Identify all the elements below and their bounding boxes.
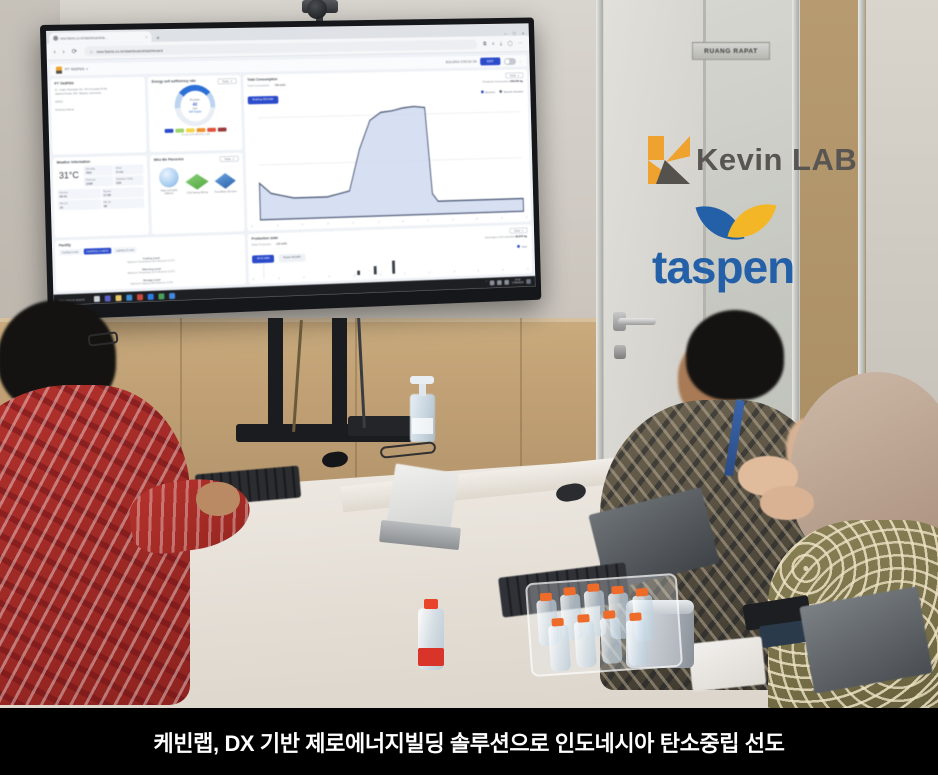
chevron-down-icon: ▾ [233, 157, 234, 160]
chevron-down-icon: ▾ [231, 80, 232, 83]
legend-solar: Solar [518, 245, 528, 249]
consumption-area-chart: 00020406 08101214 16182022 [248, 96, 528, 228]
resource-item[interactable]: Solar Cell 1200 kWh/m2 [155, 167, 181, 196]
edit-button[interactable]: EDIT [480, 58, 500, 65]
consumption-meta-key: Total Consumption [247, 83, 269, 87]
production-meta-value: 136 kWh [276, 242, 287, 246]
building-address-2: Jakarta Pusat, DKI Jakarta, Indonesia [55, 90, 142, 96]
blue-energy-icon [215, 173, 237, 189]
taskbar-tray: ^ 14:3217/06/2024 [486, 279, 531, 286]
chrome-icon[interactable] [169, 292, 175, 298]
efficiency-period-select[interactable]: Today ▾ [217, 78, 236, 84]
back-icon[interactable]: ‹ [53, 48, 55, 55]
weather-metric: Humidity78% [84, 165, 114, 176]
energy-dashboard: PT TASPEN ▾ BUILDING STATUS ON EDIT ◌ PT… [47, 52, 535, 295]
resource-item[interactable]: Tree Effect 120 trees [212, 173, 238, 195]
total-consumption-card: Total Consumption Today ▾ Total Consumpt… [243, 69, 531, 231]
bell-icon[interactable]: ◌ [519, 58, 521, 63]
profile-icon[interactable]: ◯ [507, 41, 512, 47]
taspen-leaf-icon [700, 198, 776, 244]
status-toggle[interactable] [504, 58, 516, 65]
kevin-lab-logo: Kevin LAB [648, 136, 857, 184]
reload-icon[interactable]: ⟳ [72, 47, 78, 55]
chevron-down-icon: ▾ [522, 229, 523, 232]
camera-lens-icon [307, 0, 327, 19]
address-bar-url: new.5ams.co.kr/dashboard/dashboard [96, 47, 162, 53]
person-left-hand [196, 482, 240, 516]
resource-card: Who We Parcorms Today ▾ Solar Cell 1200 … [150, 153, 245, 235]
efficiency-donut-chart: Provider 42 kWh Self Supply [174, 84, 216, 126]
facility-item: Storage Level Maximum Capacity 85% Minim… [60, 275, 242, 289]
consumption-right-stat-value: 248,450 kg [510, 79, 523, 83]
zoom-icon[interactable] [147, 293, 153, 299]
resource-label: CO2 Saving 820 kg [187, 191, 208, 195]
person-right-man-hair [686, 310, 784, 400]
production-right-stat-key: Generation CO2 reduction [485, 235, 515, 240]
dashboard-grid: PT TASPEN JL. Letjen Suprapto No. 45 Cem… [50, 69, 532, 291]
facility-meta: Lighting 21 units [113, 247, 137, 254]
self-sufficiency-card: Energy self sufficiency rate Today ▾ Pro… [148, 75, 243, 152]
download-icon[interactable]: ⤓ [500, 41, 502, 47]
consumption-period-select[interactable]: Today ▾ [505, 72, 523, 78]
tab-title: new.5ams.co.kr/dashboard/da... [60, 35, 107, 40]
kevin-lab-k-icon [648, 136, 690, 184]
status-label: BUILDING STATUS ON [446, 60, 477, 64]
production-right-stat: Generation CO2 reduction 82,870 kg [485, 234, 527, 239]
tissue-box [688, 636, 767, 691]
efficiency-legend-caption: % level self sufficiency map [182, 132, 210, 136]
chevron-down-icon[interactable]: ▾ [86, 67, 88, 71]
explorer-icon[interactable] [115, 295, 121, 301]
search-icon[interactable]: ⌕ [492, 41, 495, 47]
weather-temperature: 31°C [57, 166, 81, 188]
donut-value: 42 [193, 102, 198, 107]
office-icon[interactable] [137, 294, 143, 300]
building-info-card: PT TASPEN JL. Letjen Suprapto No. 45 Cem… [50, 77, 146, 155]
water-bottle [574, 621, 597, 668]
facility-meta: Cooling 3 units [59, 249, 81, 256]
consumption-period-value: Today [510, 74, 516, 77]
tv-stand-leg [332, 318, 347, 426]
green-field-icon [185, 174, 209, 190]
wall-display: new.5ams.co.kr/dashboard/da... × + – □ ×… [40, 17, 541, 319]
water-bottle-basket [525, 573, 683, 677]
weather-footer-metrics: Sunrise05:42 Sunset17:58 PM 2.522 PM 103… [57, 187, 144, 211]
start-icon[interactable] [93, 295, 99, 301]
door-lock[interactable] [614, 345, 626, 359]
battery-icon[interactable] [504, 280, 509, 285]
taskbar-clock[interactable]: 14:3217/06/2024 [512, 279, 524, 285]
network-icon[interactable] [490, 280, 495, 285]
site-info-icon[interactable]: ⌂ [90, 49, 93, 54]
building-address-3: 10520 [55, 98, 142, 104]
display-screen: new.5ams.co.kr/dashboard/da... × + – □ ×… [46, 23, 535, 305]
facility-control-button[interactable]: CONTROL 2 UNITS [83, 248, 111, 255]
solar-sphere-icon [159, 167, 179, 187]
kevin-lab-wordmark: Kevin LAB [696, 142, 857, 178]
resource-label: Solar Cell 1200 kWh/m2 [156, 189, 182, 196]
tv-stand-leg [268, 318, 283, 426]
consumption-chart-svg [248, 96, 528, 228]
weather-metric: Sunrise05:42 [57, 188, 100, 199]
water-bottle [600, 617, 623, 664]
door-sign-label: RUANG RAPAT [704, 48, 758, 55]
resource-period-value: Today [224, 157, 231, 160]
legend-electricity: Electricity [481, 90, 495, 94]
meeting-room-photo: RUANG RAPAT Kevin LAB taspen new.5ams.co… [0, 0, 938, 775]
teams-icon[interactable] [104, 295, 110, 301]
site-name: PT TASPEN [65, 67, 84, 71]
resource-label: Tree Effect 120 trees [214, 190, 236, 194]
dashboard-logo-icon [56, 66, 62, 73]
consumption-legend: Electricity Baseline Standard [481, 90, 523, 95]
consumption-right-stat-key: Predicted Consumption [483, 79, 510, 83]
forward-icon[interactable]: › [63, 48, 65, 55]
volume-icon[interactable] [497, 280, 502, 285]
facility-card: Facility Cooling 3 units CONTROL 2 UNITS… [55, 234, 246, 291]
weather-body: 31°C Humidity78% Wind3 m/s Pressure1008 … [57, 164, 144, 187]
sanitizer-label [412, 418, 433, 434]
door-sign: RUANG RAPAT [692, 42, 770, 60]
production-solar-card: Production solar Today ▾ Daily Productio… [248, 224, 533, 284]
production-period-value: Today [514, 229, 520, 232]
water-bottle-single [418, 608, 444, 670]
production-meta-key: Daily Production [252, 242, 272, 247]
water-bottle [626, 619, 649, 666]
production-right-stat-value: 82,870 kg [515, 234, 527, 238]
sanitizer-pump-icon[interactable] [410, 376, 434, 384]
resource-period-select[interactable]: Today ▾ [220, 156, 239, 162]
edge-icon[interactable] [126, 294, 132, 300]
person-right-man-hand [760, 486, 814, 520]
water-bottle [548, 625, 571, 672]
consumption-meta-value: 758 kWh [274, 83, 285, 87]
weather-metric: Sunset17:58 [101, 187, 144, 198]
notification-icon[interactable] [526, 279, 531, 284]
weather-metrics: Humidity78% Wind3 m/s Pressure1008 Radia… [84, 164, 144, 187]
weather-card: Weather Information 31°C Humidity78% Win… [53, 155, 149, 237]
resource-icons: Solar Cell 1200 kWh/m2 CO2 Saving 820 kg… [154, 166, 240, 197]
efficiency-donut-wrap: Provider 42 kWh Self Supply [152, 84, 238, 137]
sanitizer-neck [419, 384, 426, 396]
building-address-4: Gedung Utama [55, 106, 142, 112]
resource-item[interactable]: CO2 Saving 820 kg [184, 174, 210, 196]
weather-metric: Wind3 m/s [114, 164, 144, 175]
weather-metric: Radiation Solar520 [114, 175, 144, 186]
weather-metric: PM 1038 [102, 198, 145, 209]
extensions-icon[interactable]: ⧉ [483, 41, 486, 47]
taspen-logo: taspen [648, 198, 828, 290]
tab-favicon [53, 36, 58, 41]
efficiency-period-value: Today [222, 80, 229, 83]
building-card-title: PT TASPEN [54, 80, 141, 86]
consumption-right-stat: Predicted Consumption 248,450 kg [483, 79, 523, 84]
door-handle[interactable] [618, 318, 656, 325]
tab-close-icon[interactable]: × [145, 34, 147, 39]
weather-metric: PM 2.522 [58, 199, 101, 210]
donut-note: Self Supply [189, 111, 202, 114]
dashboard-header-actions: BUILDING STATUS ON EDIT ◌ [446, 57, 522, 65]
caption-text: 케빈랩, DX 기반 제로에너지빌딩 솔루션으로 인도네시아 탄소중립 선도 [154, 726, 785, 758]
chevron-down-icon: ▾ [518, 74, 519, 77]
menu-icon[interactable]: ⋯ [518, 41, 523, 47]
legend-baseline: Baseline Standard [500, 90, 524, 94]
caption-bar: 케빈랩, DX 기반 제로에너지빌딩 솔루션으로 인도네시아 탄소중립 선도 [0, 708, 938, 775]
browser-toolbar-actions: ⧉ ⌕ ⤓ ◯ ⋯ [483, 41, 523, 47]
production-legend: Solar [518, 245, 528, 249]
whatsapp-icon[interactable] [158, 293, 164, 299]
production-period-select[interactable]: Today ▾ [509, 227, 527, 233]
weather-metric: Pressure1008 [84, 176, 114, 187]
chevron-up-icon[interactable]: ^ [486, 282, 487, 285]
taspen-wordmark: taspen [652, 246, 828, 290]
